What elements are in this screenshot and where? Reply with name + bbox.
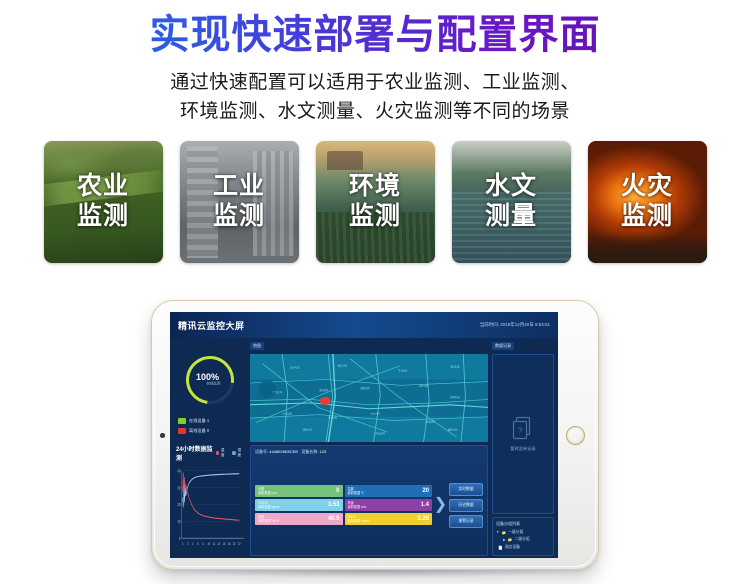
document-icon: ? <box>512 416 534 442</box>
scene-card-label-line1: 农业 <box>77 172 129 202</box>
svg-text:6: 6 <box>197 541 198 546</box>
page-subtitle: 通过快速配置可以适用于农业监测、工业监测、 环境监测、水文测量、火灾监测等不同的… <box>0 68 750 127</box>
svg-text:20: 20 <box>233 541 236 546</box>
chart-legend-label: 湿度 <box>238 448 244 458</box>
sensor-tile-sub: 最新数据 m/s <box>348 505 367 509</box>
tree-node-level1[interactable]: ▼ 📁 一级分组 <box>496 530 550 535</box>
svg-text:30: 30 <box>177 486 180 491</box>
folder-icon: 📁 <box>508 537 513 542</box>
svg-text:0: 0 <box>179 536 180 541</box>
sensor-tile-pm10[interactable]: PM10 最新数据 ug/m³ 3.20 <box>345 513 433 525</box>
svg-text:16: 16 <box>223 541 226 546</box>
records-panel-tag: 数据记录 <box>492 342 514 350</box>
sensor-tile-temperature[interactable]: 温度 最新数据 ℃ 20 <box>345 485 433 497</box>
subtitle-line-2: 环境监测、水文测量、火灾监测等不同的场景 <box>0 97 750 126</box>
gauge-ring: 100% 在线比率 <box>176 346 243 413</box>
svg-text:10: 10 <box>177 519 180 524</box>
chevron-right-icon[interactable]: ▶ <box>503 538 506 542</box>
scene-card-label-line1: 环境 <box>349 172 401 202</box>
records-empty-state: ? 暂时没有记录 <box>492 354 554 514</box>
scene-card-label: 农业 监测 <box>44 141 163 263</box>
legend-item-offline: 离线设备 0 <box>178 428 246 434</box>
tree-node-level2[interactable]: ▶ 📁 二级分组 <box>496 537 550 542</box>
legend-label: 离线设备 0 <box>189 428 209 434</box>
alarm-records-button[interactable]: 报警记录 <box>449 515 483 528</box>
sensor-tile-value: 0 <box>336 488 339 494</box>
device-meta: 设备号: 4448026E8CEB 设备名称: 123 <box>255 449 483 455</box>
svg-text:0: 0 <box>182 541 183 546</box>
chart-legend-item-humidity[interactable]: 湿度 <box>232 448 244 458</box>
online-rate-gauge: 100% 在线比率 <box>174 342 246 418</box>
scene-card-hydrology[interactable]: 水文 测量 <box>452 141 571 263</box>
svg-text:20: 20 <box>177 502 180 507</box>
device-name-label: 设备名称: <box>301 449 318 454</box>
sensor-tile-sub: 最新数据 %RH <box>258 519 279 523</box>
chart-legend-label: 温度 <box>221 448 227 458</box>
scene-card-label-line2: 监测 <box>213 202 265 232</box>
tree-node-label: 一级分组 <box>508 530 523 535</box>
sensor-tile-value: 1.4 <box>421 502 429 508</box>
tree-node-label: 测点设备 <box>505 545 520 550</box>
chart-legend-item-temp[interactable]: 温度 <box>216 448 228 458</box>
gauge-caption: 在线比率 <box>206 382 220 387</box>
tree-node-level3[interactable]: 📄 测点设备 <box>496 545 550 550</box>
front-camera-icon <box>160 433 165 438</box>
next-device-arrow-icon[interactable]: ❯ <box>435 497 446 513</box>
svg-text:丰台区: 丰台区 <box>328 415 338 419</box>
chart-header: 24小时数据监测 温度 湿度 <box>176 444 246 462</box>
dashboard-title: 精讯云监控大屏 <box>178 319 245 332</box>
svg-text:8: 8 <box>202 541 203 546</box>
device-status-legend: 在线设备 1 离线设备 0 <box>174 418 246 438</box>
sensor-tile-value: 40.5 <box>328 516 340 522</box>
scene-card-label-line1: 水文 <box>485 172 537 202</box>
online-swatch-icon <box>178 418 186 424</box>
folder-icon: 📁 <box>501 530 506 535</box>
svg-text:通州区: 通州区 <box>419 383 429 387</box>
sensor-tile-value: 20 <box>422 488 429 494</box>
svg-text:房山区: 房山区 <box>283 411 293 415</box>
svg-text:4: 4 <box>192 541 193 546</box>
humidity-dot-icon <box>232 451 235 455</box>
svg-text:霸州市: 霸州市 <box>448 427 458 431</box>
tablet-body: 精讯云监控大屏 当前时间: 2019年12月20日 9:53:01 100% 在… <box>151 300 599 570</box>
svg-text:10: 10 <box>207 541 210 546</box>
sensor-tile-humidity[interactable]: 湿度 最新数据 %RH 40.5 <box>255 513 343 525</box>
svg-text:昌平区: 昌平区 <box>290 366 300 369</box>
device-group-tree: 设备分组列表 ▼ 📁 一级分组 ▶ 📁 二级分组 📄 <box>492 517 554 557</box>
device-node-icon: 📄 <box>498 545 503 550</box>
device-map[interactable]: 昌平区顺义区 平谷区密云区 门头沟海淀区 朝阳区通州区 廊坊市房山区 丰台区大兴… <box>250 354 488 442</box>
svg-text:12: 12 <box>213 541 216 546</box>
scene-card-label-line2: 监测 <box>621 202 673 232</box>
scene-card-label-line1: 工业 <box>213 172 265 202</box>
scene-card-label: 水文 测量 <box>452 141 571 263</box>
svg-text:涿州市: 涿州市 <box>303 427 313 431</box>
sensor-tile-windspeed[interactable]: 风速 最新数据 m/s 1.4 <box>345 499 433 511</box>
scene-card-list: 农业 监测 工业 监测 环境 监测 水文 测量 火灾 监测 <box>0 141 750 263</box>
scene-card-label-line2: 监测 <box>349 202 401 232</box>
tree-node-label: 二级分组 <box>514 537 529 542</box>
sensor-tile-value: 3.53 <box>328 502 340 508</box>
svg-text:平谷区: 平谷区 <box>398 368 408 372</box>
svg-text:密云区: 密云区 <box>450 364 460 368</box>
chevron-down-icon[interactable]: ▼ <box>496 530 499 534</box>
legend-label: 在线设备 1 <box>189 418 209 424</box>
offline-swatch-icon <box>178 428 186 434</box>
sensor-tile-sub: 最新数据 ℃ <box>348 491 365 495</box>
svg-text:顺义区: 顺义区 <box>338 364 348 367</box>
device-card-main: 光照 最新数据 Lux 0 温度 最新数据 ℃ <box>255 458 483 552</box>
home-button[interactable] <box>566 426 585 445</box>
tablet-device: 精讯云监控大屏 当前时间: 2019年12月20日 9:53:01 100% 在… <box>151 300 599 570</box>
svg-text:18: 18 <box>228 541 231 546</box>
svg-text:海淀区: 海淀区 <box>319 388 329 392</box>
scene-card-environment[interactable]: 环境 监测 <box>316 141 435 263</box>
chart-title: 24小时数据监测 <box>176 444 216 462</box>
svg-text:?: ? <box>517 426 522 436</box>
sensor-tile-sub: 最新数据 ug/m³ <box>348 519 370 523</box>
sensor-tile-sub: 最新数据 Lux <box>258 491 277 495</box>
svg-text:门头沟: 门头沟 <box>273 390 283 394</box>
left-panel: 100% 在线比率 在线设备 1 离线设备 0 <box>174 342 246 556</box>
history-data-button[interactable]: 历史数据 <box>449 499 483 512</box>
center-panel: 地图 <box>250 342 488 556</box>
dashboard-header: 精讯云监控大屏 当前时间: 2019年12月20日 9:53:01 <box>170 312 558 338</box>
subtitle-line-1: 通过快速配置可以适用于农业监测、工业监测、 <box>0 68 750 97</box>
svg-text:武清区: 武清区 <box>425 419 435 423</box>
dashboard-body: 100% 在线比率 在线设备 1 离线设备 0 <box>170 338 558 558</box>
scene-card-label: 工业 监测 <box>180 141 299 263</box>
device-name-value: 123 <box>320 449 327 454</box>
sensor-tile-grid: 光照 最新数据 Lux 0 温度 最新数据 ℃ <box>255 485 432 525</box>
svg-text:廊坊市: 廊坊市 <box>450 395 460 399</box>
chart-legend: 温度 湿度 <box>216 448 244 458</box>
dashboard-screen: 精讯云监控大屏 当前时间: 2019年12月20日 9:53:01 100% 在… <box>170 312 558 558</box>
svg-text:40: 40 <box>177 469 180 474</box>
current-time: 当前时间: 2019年12月20日 9:53:01 <box>480 322 550 328</box>
device-data-card: 设备号: 4448026E8CEB 设备名称: 123 光照 <box>250 445 488 556</box>
scene-card-label: 火灾 监测 <box>588 141 707 263</box>
scene-card-label-line2: 测量 <box>485 202 537 232</box>
gauge-percent: 100% <box>196 373 219 382</box>
svg-text:14: 14 <box>218 541 221 546</box>
svg-text:朝阳区: 朝阳区 <box>360 386 370 390</box>
svg-text:2: 2 <box>187 541 188 546</box>
svg-text:大兴区: 大兴区 <box>370 411 380 415</box>
map-panel-tag: 地图 <box>250 342 264 350</box>
realtime-data-button[interactable]: 实时数据 <box>449 483 483 496</box>
legend-item-online: 在线设备 1 <box>178 418 246 424</box>
sensor-tile-light[interactable]: 光照 最新数据 Lux 0 <box>255 485 343 497</box>
svg-text:22: 22 <box>238 541 241 546</box>
tree-title: 设备分组列表 <box>496 521 550 527</box>
records-empty-text: 暂时没有记录 <box>510 446 535 452</box>
device-id-label: 设备号: <box>255 449 268 454</box>
line-chart[interactable]: 40 30 20 10 0 02 46 810 1214 <box>175 464 245 554</box>
sensor-tile-sub: 最新数据 ug/m³ <box>258 505 280 509</box>
scene-card-agriculture[interactable]: 农业 监测 <box>44 141 163 263</box>
sensor-tile-pm25[interactable]: PM2.5 最新数据 ug/m³ 3.53 <box>255 499 343 511</box>
device-action-buttons: 实时数据 历史数据 报警记录 <box>449 483 483 528</box>
scene-card-fire[interactable]: 火灾 监测 <box>588 141 707 263</box>
temperature-dot-icon <box>216 451 219 455</box>
sensor-tile-value: 3.20 <box>417 516 429 522</box>
scene-card-label-line2: 监测 <box>77 202 129 232</box>
svg-text:固安县: 固安县 <box>375 431 385 435</box>
page-title: 实现快速部署与配置界面 <box>0 12 750 58</box>
scene-card-industry[interactable]: 工业 监测 <box>180 141 299 263</box>
device-id-value: 4448026E8CEB <box>269 449 298 454</box>
scene-card-label: 环境 监测 <box>316 141 435 263</box>
right-panel: 数据记录 ? 暂时没有记录 设备分组列表 ▼ <box>492 342 554 556</box>
scene-card-label-line1: 火灾 <box>621 172 673 202</box>
